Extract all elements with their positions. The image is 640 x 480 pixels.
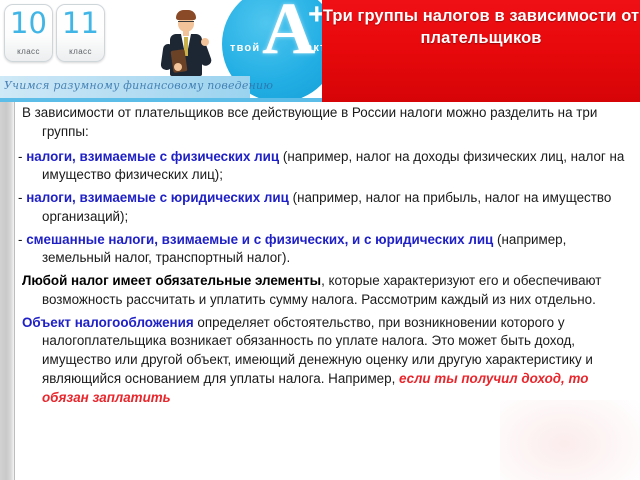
paragraph-object-example-prefix: Например, xyxy=(328,371,399,386)
bullet-marker-3: - xyxy=(18,232,22,247)
bullet-bold-3: смешанные налоги, взимаемые и с физическ… xyxy=(26,232,493,247)
header-title-panel: Три группы налогов в зависимости от плат… xyxy=(322,0,640,102)
logo-word-left: твой xyxy=(230,42,260,54)
header-underline-divider xyxy=(0,98,322,102)
tagline-band: Учимся разумному финансовому поведению xyxy=(0,76,250,98)
header-branding-panel: 10 класс 11 класс xyxy=(0,0,322,102)
bullet-marker-1: - xyxy=(18,149,22,164)
slide-header: 10 класс 11 класс xyxy=(0,0,640,102)
grade-badge-10-number: 10 xyxy=(5,6,52,40)
logo-plus-icon: + xyxy=(308,0,322,30)
tagline-text: Учимся разумному финансовому поведению xyxy=(4,79,273,92)
grade-badge-10-label: класс xyxy=(5,47,52,56)
logo-word-right: акт xyxy=(306,42,322,54)
grade-badge-11: 11 класс xyxy=(56,4,105,62)
grade-badge-10: 10 класс xyxy=(4,4,53,62)
bullet-bold-2: налоги, взимаемые с юридических лиц xyxy=(26,190,289,205)
paragraph-mandatory-elements: Любой налог имеет обязательные элементы,… xyxy=(18,272,634,310)
paragraph-mandatory-elements-bold: Любой налог имеет обязательные элементы xyxy=(22,273,321,288)
grade-badge-11-label: класс xyxy=(57,47,104,56)
slide-root: 10 класс 11 класс xyxy=(0,0,640,480)
background-watermark xyxy=(500,400,640,480)
page-edge-line xyxy=(14,100,15,480)
bullet-bold-1: налоги, взимаемые с физических лиц xyxy=(26,149,279,164)
teacher-illustration-icon xyxy=(160,10,212,82)
intro-paragraph: В зависимости от плательщиков все действ… xyxy=(18,104,634,142)
intro-text: В зависимости от плательщиков все действ… xyxy=(22,105,597,139)
paragraph-object-bold: Объект налогообложения xyxy=(22,315,194,330)
paragraph-object-of-taxation: Объект налогообложения определяет обстоя… xyxy=(18,314,634,408)
slide-body: В зависимости от плательщиков все действ… xyxy=(15,104,640,480)
bullet-item-1: - налоги, взимаемые с физических лиц (на… xyxy=(18,148,634,186)
bullet-marker-2: - xyxy=(18,190,22,205)
grade-badge-11-number: 11 xyxy=(57,6,104,40)
bullet-item-3: - смешанные налоги, взимаемые и с физиче… xyxy=(18,231,634,269)
page-title: Три группы налогов в зависимости от плат… xyxy=(322,6,640,50)
bullet-item-2: - налоги, взимаемые с юридических лиц (н… xyxy=(18,189,634,227)
page-edge-shadow xyxy=(0,100,15,480)
